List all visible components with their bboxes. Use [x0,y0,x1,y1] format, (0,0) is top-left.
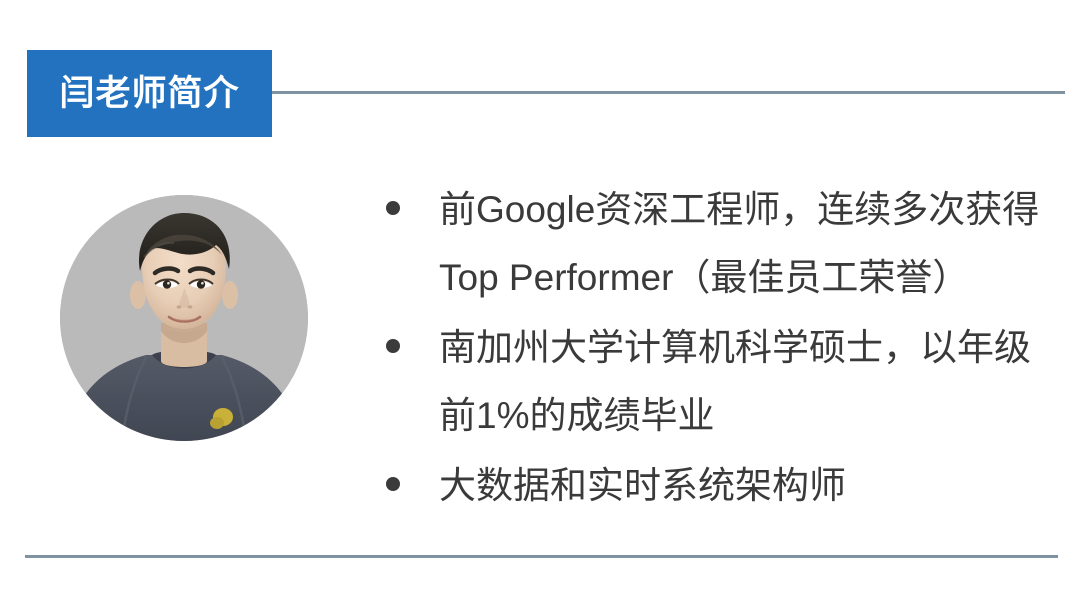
list-item: 大数据和实时系统架构师 [386,452,1062,520]
section-title-badge: 闫老师简介 [27,50,272,137]
bio-bullet-text: 大数据和实时系统架构师 [439,452,1062,520]
bio-bullet-text: 前Google资深工程师，连续多次获得 Top Performer（最佳员工荣誉… [439,176,1062,312]
list-item: 前Google资深工程师，连续多次获得 Top Performer（最佳员工荣誉… [386,176,1062,312]
section-title-text: 闫老师简介 [59,76,239,111]
bullet-dot-icon [386,477,400,491]
bullet-dot-icon [386,339,400,353]
header-divider [272,91,1065,94]
footer-divider [25,555,1058,558]
list-item: 南加州大学计算机科学硕士，以年级前1%的成绩毕业 [386,314,1062,450]
slide-header: 闫老师简介 [0,0,1080,150]
avatar-portrait-icon [60,195,308,441]
avatar [60,195,308,441]
profile-slide: 闫老师简介 [0,0,1080,613]
bio-bullet-list: 前Google资深工程师，连续多次获得 Top Performer（最佳员工荣誉… [386,176,1062,522]
bullet-dot-icon [386,201,400,215]
bio-bullet-text: 南加州大学计算机科学硕士，以年级前1%的成绩毕业 [439,314,1062,450]
